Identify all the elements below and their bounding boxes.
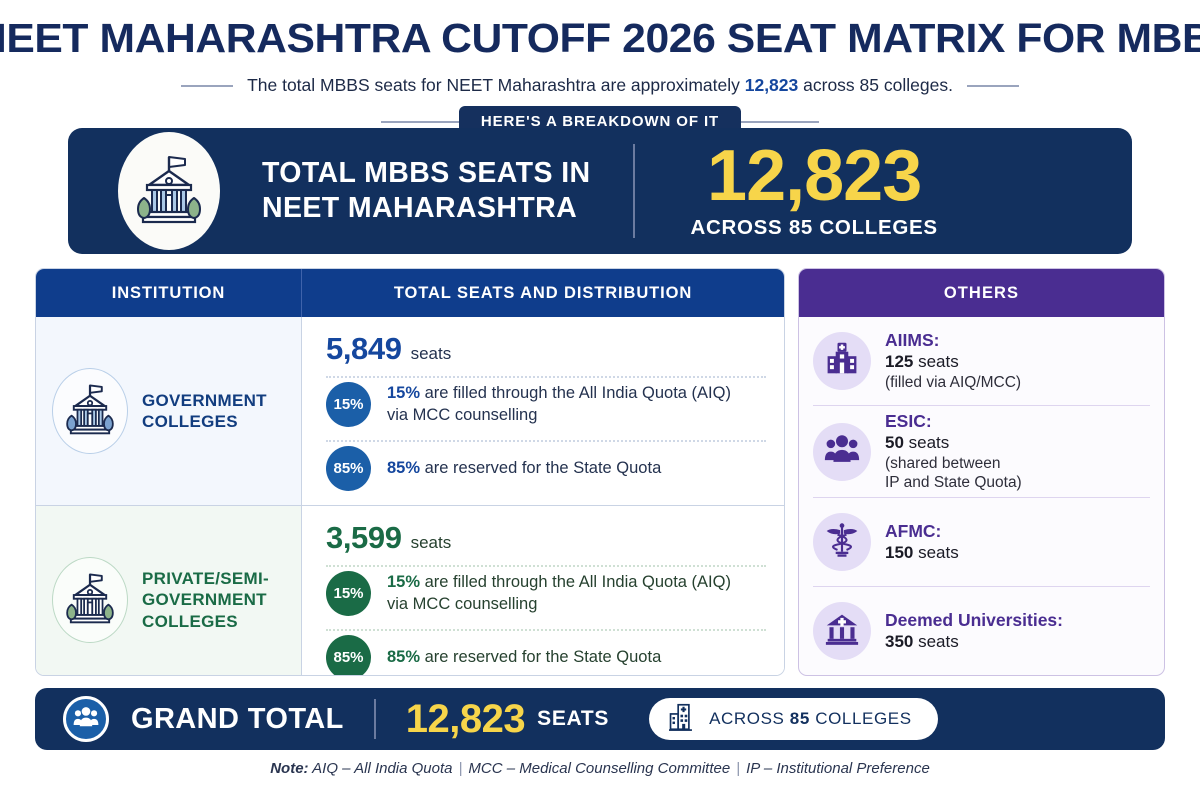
private-seat-total: 3,599 seats <box>326 520 766 556</box>
quota-desc-line1: are reserved for the State Quota <box>420 648 661 666</box>
quota-row-state-government: 85% 85% are reserved for the State Quota <box>326 442 766 495</box>
banner-label-line1: TOTAL MBBS SEATS IN <box>262 156 591 191</box>
divider-line-left <box>181 85 233 87</box>
footnote-separator: | <box>453 760 469 777</box>
subtitle-total-number: 12,823 <box>745 75 799 95</box>
institution-name-government: GOVERNMENT COLLEGES <box>142 390 301 433</box>
quota-row-aiq-private: 15% 15% are filled through the All India… <box>326 567 766 620</box>
list-item: AIIMS: 125 seats (filled via AIQ/MCC) <box>813 317 1150 406</box>
main-content-area: INSTITUTION TOTAL SEATS AND DISTRIBUTION <box>35 268 1165 676</box>
across-colleges-pill: ACROSS 85 COLLEGES <box>649 698 938 740</box>
esic-note-line2: IP and State Quota) <box>885 473 1022 493</box>
deemed-universities-seats: 350 seats <box>885 631 1063 653</box>
cell-institution-private: PRIVATE/SEMI-GOVERNMENT COLLEGES <box>36 506 302 676</box>
aiims-seats: 125 seats <box>885 351 1021 373</box>
grand-total-number: 12,823 <box>406 697 525 742</box>
table-header-row: INSTITUTION TOTAL SEATS AND DISTRIBUTION <box>36 269 784 317</box>
government-seat-number: 5,849 <box>326 331 402 367</box>
afmc-seat-number: 150 <box>885 543 913 562</box>
grand-total-divider <box>374 699 376 739</box>
esic-seats: 50 seats <box>885 432 1022 454</box>
deemed-universities-name: Deemed Universities: <box>885 609 1063 631</box>
quota-row-aiq-government: 15% 15% are filled through the All India… <box>326 378 766 431</box>
government-seat-word: seats <box>411 344 452 364</box>
quota-percent-85: 85% <box>387 459 420 477</box>
subtitle-suffix: across 85 colleges. <box>798 75 953 95</box>
pill-college-count: 85 <box>790 709 810 728</box>
quota-percent-15: 15% <box>387 384 420 402</box>
quota-percent-85: 85% <box>387 648 420 666</box>
hospital-icon <box>669 703 695 736</box>
others-panel-title: OTHERS <box>799 269 1164 317</box>
deemed-seat-word: seats <box>913 632 958 651</box>
banner-divider <box>633 144 635 238</box>
quota-text-state-government: 85% are reserved for the State Quota <box>387 458 661 480</box>
esic-icon-circle <box>813 423 871 481</box>
others-list: AIIMS: 125 seats (filled via AIQ/MCC) <box>799 317 1164 675</box>
deemed-universities-icon-circle <box>813 602 871 660</box>
government-seat-total: 5,849 seats <box>326 331 766 367</box>
grand-total-label: GRAND TOTAL <box>131 703 344 736</box>
private-seat-word: seats <box>411 533 452 553</box>
quota-desc-line2: via MCC counselling <box>387 406 537 424</box>
footnote-item-3: IP – Institutional Preference <box>746 760 930 777</box>
others-panel: OTHERS <box>798 268 1165 676</box>
banner-colleges-label: ACROSS 85 COLLEGES <box>691 216 938 240</box>
esic-text: ESIC: 50 seats (shared between IP and St… <box>885 410 1022 493</box>
banner-icon-circle <box>118 132 220 250</box>
footnote-prefix: Note: <box>270 760 308 777</box>
table-row: PRIVATE/SEMI-GOVERNMENT COLLEGES 3,599 s… <box>36 505 784 676</box>
pill-prefix: ACROSS <box>709 709 790 728</box>
percent-badge-15: 15% <box>326 571 371 616</box>
grand-total-seats-word: SEATS <box>537 707 609 731</box>
private-icon-circle <box>52 557 128 643</box>
cell-distribution-private: 3,599 seats 15% 15% are filled through t… <box>302 506 784 676</box>
esic-seat-number: 50 <box>885 433 904 452</box>
grand-total-bar: GRAND TOTAL 12,823 SEATS ACROSS 85 COLLE… <box>35 688 1165 750</box>
subtitle-text: The total MBBS seats for NEET Maharashtr… <box>247 75 953 96</box>
table-row: GOVERNMENT COLLEGES 5,849 seats 15% 15% … <box>36 317 784 505</box>
badge-rule-right <box>741 121 819 123</box>
quota-text-aiq-government: 15% are filled through the All India Quo… <box>387 383 731 427</box>
list-item: AFMC: 150 seats <box>813 498 1150 587</box>
quota-row-state-private: 85% 85% are reserved for the State Quota <box>326 631 766 676</box>
afmc-seat-word: seats <box>913 543 958 562</box>
institution-building-icon <box>133 151 205 232</box>
percent-badge-85: 85% <box>326 635 371 676</box>
institution-building-icon <box>63 381 117 442</box>
esic-name: ESIC: <box>885 410 1022 432</box>
aiims-seat-word: seats <box>913 352 958 371</box>
column-header-distribution: TOTAL SEATS AND DISTRIBUTION <box>302 269 784 317</box>
total-seats-banner: TOTAL MBBS SEATS IN NEET MAHARASHTRA 12,… <box>68 128 1132 254</box>
list-item: Deemed Universities: 350 seats <box>813 587 1150 675</box>
quota-text-state-private: 85% are reserved for the State Quota <box>387 647 661 669</box>
institution-name-private: PRIVATE/SEMI-GOVERNMENT COLLEGES <box>142 568 301 632</box>
afmc-icon-circle <box>813 513 871 571</box>
footnote-separator: | <box>730 760 746 777</box>
badge-rule-left <box>381 121 459 123</box>
divider-line-right <box>967 85 1019 87</box>
government-icon-circle <box>52 368 128 454</box>
percent-badge-15: 15% <box>326 382 371 427</box>
percent-badge-85: 85% <box>326 446 371 491</box>
list-item: ESIC: 50 seats (shared between IP and St… <box>813 406 1150 498</box>
deemed-universities-text: Deemed Universities: 350 seats <box>885 609 1063 653</box>
quota-desc-line1: are filled through the All India Quota (… <box>420 384 731 402</box>
institution-building-icon <box>63 570 117 631</box>
people-group-icon <box>824 432 860 471</box>
quota-desc-line2: via MCC counselling <box>387 595 537 613</box>
banner-total-number: 12,823 <box>691 142 938 211</box>
pill-suffix: COLLEGES <box>810 709 912 728</box>
across-colleges-text: ACROSS 85 COLLEGES <box>709 709 912 729</box>
quota-text-aiq-private: 15% are filled through the All India Quo… <box>387 572 731 616</box>
cell-institution-government: GOVERNMENT COLLEGES <box>36 317 302 505</box>
grand-total-icon-circle <box>63 696 109 742</box>
banner-figure-group: 12,823 ACROSS 85 COLLEGES <box>691 142 938 239</box>
aiims-icon-circle <box>813 332 871 390</box>
afmc-text: AFMC: 150 seats <box>885 520 959 564</box>
cell-distribution-government: 5,849 seats 15% 15% are filled through t… <box>302 317 784 505</box>
banner-label-line2: NEET MAHARASHTRA <box>262 191 591 226</box>
quota-desc-line1: are filled through the All India Quota (… <box>420 573 731 591</box>
footnote: Note: AIQ – All India Quota|MCC – Medica… <box>0 760 1200 777</box>
esic-seat-word: seats <box>904 433 949 452</box>
column-header-institution: INSTITUTION <box>36 269 302 317</box>
aiims-text: AIIMS: 125 seats (filled via AIQ/MCC) <box>885 329 1021 392</box>
subtitle-row: The total MBBS seats for NEET Maharashtr… <box>0 75 1200 96</box>
footnote-item-2: MCC – Medical Counselling Committee <box>468 760 730 777</box>
afmc-seats: 150 seats <box>885 542 959 564</box>
banner-label: TOTAL MBBS SEATS IN NEET MAHARASHTRA <box>262 156 591 226</box>
university-medical-icon <box>824 612 860 651</box>
seat-distribution-table: INSTITUTION TOTAL SEATS AND DISTRIBUTION <box>35 268 785 676</box>
subtitle-prefix: The total MBBS seats for NEET Maharashtr… <box>247 75 745 95</box>
aiims-name: AIIMS: <box>885 329 1021 351</box>
people-group-icon <box>73 705 99 734</box>
hospital-icon <box>824 340 860 381</box>
quota-desc-line1: are reserved for the State Quota <box>420 459 661 477</box>
esic-note-line1: (shared between <box>885 454 1022 474</box>
afmc-name: AFMC: <box>885 520 959 542</box>
deemed-seat-number: 350 <box>885 632 913 651</box>
page-title: NEET MAHARASHTRA CUTOFF 2026 SEAT MATRIX… <box>0 0 1200 59</box>
footnote-item-1: AIQ – All India Quota <box>309 760 453 777</box>
quota-percent-15: 15% <box>387 573 420 591</box>
caduceus-icon <box>825 522 859 563</box>
private-seat-number: 3,599 <box>326 520 402 556</box>
aiims-note: (filled via AIQ/MCC) <box>885 373 1021 393</box>
aiims-seat-number: 125 <box>885 352 913 371</box>
